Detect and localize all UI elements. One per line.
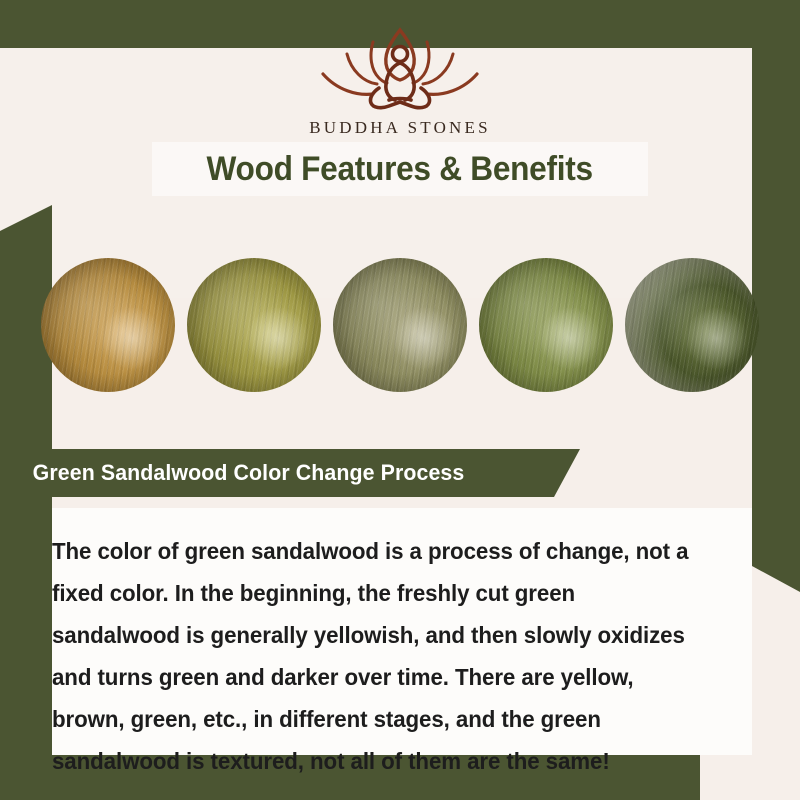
bead-color-stages xyxy=(0,258,800,392)
brand-logo: BUDDHA STONES xyxy=(0,22,800,138)
bead-stage-1 xyxy=(41,258,175,392)
page-title: Wood Features & Benefits xyxy=(207,150,593,189)
bead-stage-2 xyxy=(187,258,321,392)
infographic-card: BUDDHA STONES Wood Features & Benefits G… xyxy=(0,0,800,800)
section-heading: Green Sandalwood Color Change Process xyxy=(33,460,465,486)
page-title-band: Wood Features & Benefits xyxy=(152,142,648,196)
bead-stage-4 xyxy=(479,258,613,392)
description-text: The color of green sandalwood is a proce… xyxy=(52,530,706,782)
description-panel: The color of green sandalwood is a proce… xyxy=(52,508,752,755)
bead-shading xyxy=(187,258,321,392)
bead-shading xyxy=(625,258,759,392)
bead-stage-3 xyxy=(333,258,467,392)
bead-shading xyxy=(333,258,467,392)
bead-stage-5 xyxy=(625,258,759,392)
brand-name: BUDDHA STONES xyxy=(309,118,491,138)
lotus-meditation-icon xyxy=(307,22,493,114)
bead-shading xyxy=(479,258,613,392)
bead-shading xyxy=(41,258,175,392)
section-heading-banner: Green Sandalwood Color Change Process xyxy=(0,449,580,497)
